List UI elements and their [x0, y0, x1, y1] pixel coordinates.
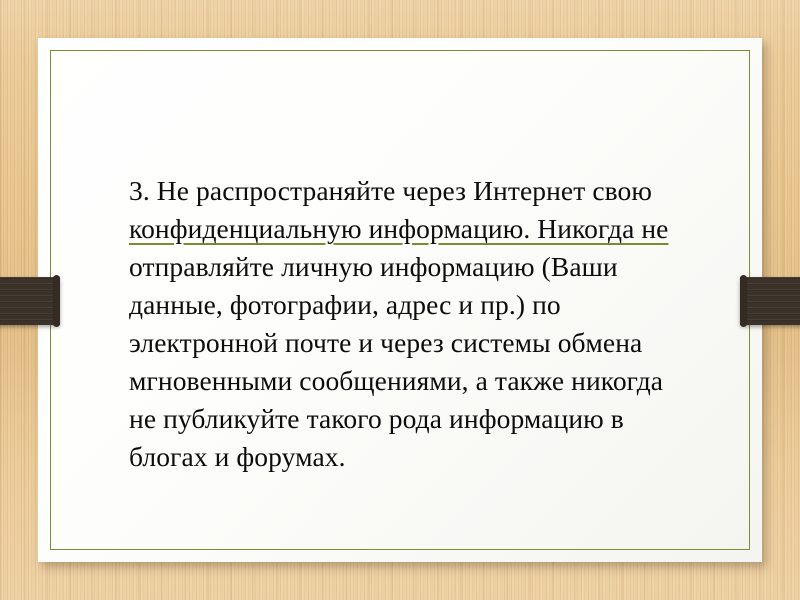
- text-line: электронной почте и через системы обмена: [129, 324, 745, 362]
- text-line: блогах и форумах.: [129, 438, 745, 476]
- left-binder-tab: [0, 277, 60, 325]
- slide-card: 3. Не распространяйте через Интернет сво…: [38, 38, 762, 562]
- text-line-underlined: конфиденциальную информацию. Никогда не: [129, 210, 745, 248]
- presentation-slide: 3. Не распространяйте через Интернет сво…: [0, 0, 800, 600]
- slide-body-text: 3. Не распространяйте через Интернет сво…: [129, 172, 745, 476]
- right-binder-tab-cap: [740, 275, 747, 327]
- right-binder-tab: [740, 277, 800, 325]
- left-binder-tab-cap: [53, 275, 60, 327]
- text-line: мгновенными сообщениями, а также никогда: [129, 362, 745, 400]
- text-line: 3. Не распространяйте через Интернет сво…: [129, 172, 745, 210]
- text-line: отправляйте личную информацию (Ваши: [129, 248, 745, 286]
- text-line: данные, фотографии, адрес и пр.) по: [129, 286, 745, 324]
- text-line: не публикуйте такого рода информацию в: [129, 400, 745, 438]
